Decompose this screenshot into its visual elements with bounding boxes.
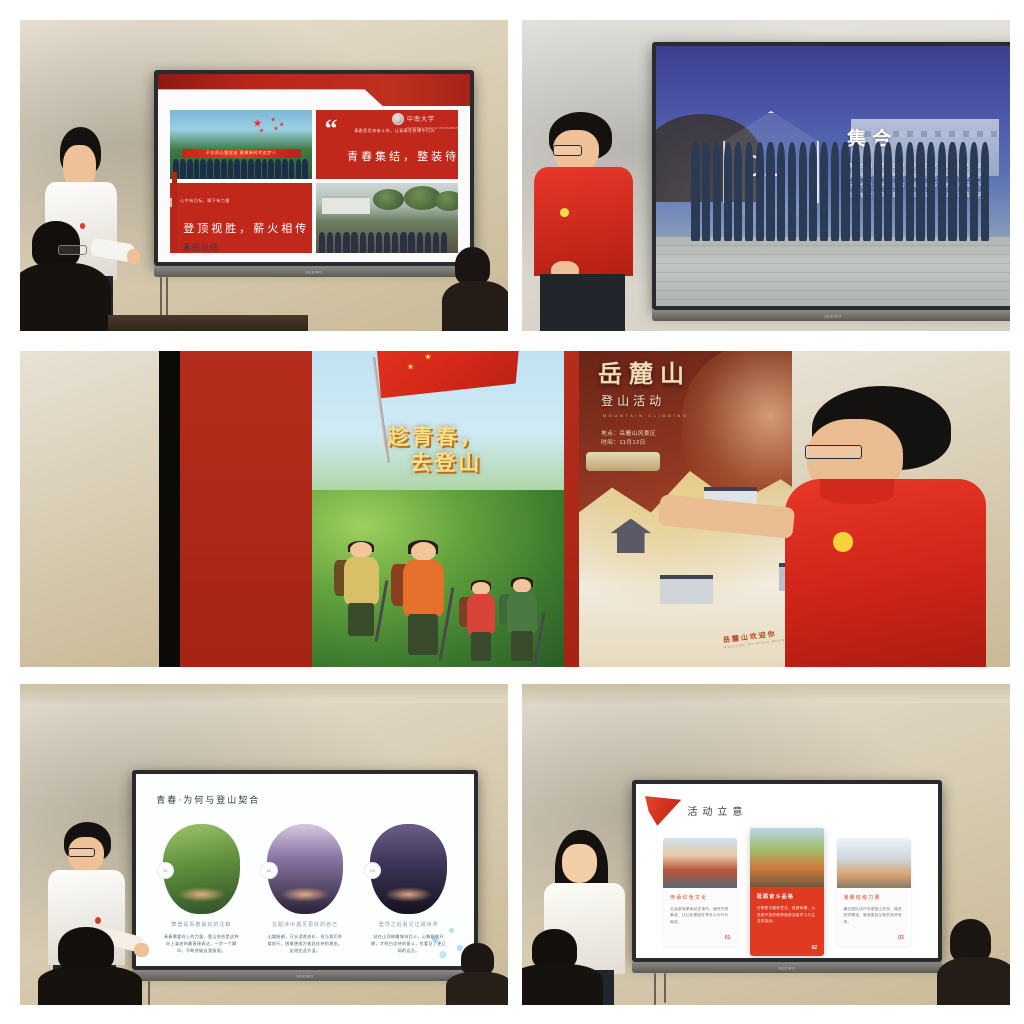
card-image-3: [837, 838, 911, 888]
slide-columns: 01 攀登是青春最好的注脚 青春需要向上的力量，登山恰恰是这种向上姿态的最直接表…: [163, 824, 447, 955]
audience-shoulders: [38, 966, 142, 1005]
display-screen-top-right: 01 集合 清晨的阳光洒在岳麓山下，同学们陆续抵达集合点，满怀期待地整理着装备。…: [652, 42, 1010, 310]
column-badge-3: 03: [365, 863, 380, 878]
university-name-en: CENTRAL SOUTH UNIVERSITY: [407, 126, 461, 130]
stone-steps: [656, 236, 1010, 306]
badge-label: 03: [365, 863, 380, 878]
poster-right-meta: 地点：岳麓山风景区 时间：11月12日: [601, 430, 656, 449]
table-edge: [108, 315, 308, 331]
presenter-glasses: [68, 848, 95, 857]
column-heading-1: 攀登是青春最好的注脚: [163, 921, 240, 928]
audience-right: [946, 919, 1010, 1005]
display-cable: [654, 973, 656, 1005]
column-badge-2: 02: [261, 863, 276, 878]
audience-head: [950, 919, 991, 962]
poster-scene: ★ ★★ ★★ 趁青春， 去登山: [20, 351, 1010, 667]
poster-left-title-line1: 趁青春，: [388, 425, 484, 449]
university-name: 中南大学: [407, 117, 435, 123]
presenter-polo: [534, 167, 633, 277]
slide-canvas-2: 01 集合 清晨的阳光洒在岳麓山下，同学们陆续抵达集合点，满怀期待地整理着装备。…: [656, 46, 1010, 306]
display-screen-top-left: 素拓总结 中南大学 CENTRAL SOUTH UNIVERSITY ★★ ★: [154, 70, 474, 266]
hiker-illustrations: [332, 509, 554, 661]
poster-right-subtitle: 登山活动: [601, 392, 665, 409]
slide-three-cards: 活动立意 传承红色文化 沿途参观革命纪念场所，缅怀先烈事迹，让红色基因在青年心中…: [636, 784, 938, 958]
scroll-decor: [586, 452, 661, 471]
class-group-silhouettes: [319, 217, 455, 253]
hiker-figure: [394, 542, 452, 654]
audience-left: [50, 927, 134, 1005]
display-brand: SEEWO: [824, 313, 841, 318]
audience-right: [456, 943, 508, 1005]
card-image-1: [663, 838, 737, 888]
poster-left-title-line2: 去登山: [410, 450, 549, 476]
poster-right-subtitle-en: MOUNTAIN CLIMBING: [603, 413, 689, 418]
column-body-2: 山路陡峭，汗水浸透衣衫，但当我们并肩前行，困难便成为彼此扶持的理由，友谊在此升温…: [267, 933, 344, 954]
presenter-middle: [772, 386, 990, 667]
presenter-face: [562, 844, 597, 883]
presenter-collar: [820, 479, 894, 504]
student-group-silhouettes: [691, 142, 1006, 241]
panel-top-left: 素拓总结 中南大学 CENTRAL SOUTH UNIVERSITY ★★ ★: [20, 20, 508, 331]
oval-image-3: [370, 824, 447, 914]
card-text-2: 在攀登中磨练意志、强健体魄，以坚韧不拔的精神面貌迎接学习与生活的挑战。: [757, 905, 817, 925]
card-body: 传承红色文化 沿途参观革命纪念场所，缅怀先烈事迹，让红色基因在青年心中代代相传。…: [663, 888, 737, 946]
display-brand: SEEWO: [296, 973, 313, 978]
card-heading-2: 砥砺奋斗品格: [757, 893, 817, 900]
card-text-3: 通过团队协作完成登山任务，增进同学情谊，营造团结互助的良好班风。: [844, 906, 904, 926]
audience-shoulders: [937, 957, 1010, 1005]
slide-red-grid: 素拓总结 中南大学 CENTRAL SOUTH UNIVERSITY ★★ ★: [158, 74, 470, 262]
slide-title: 青春·为何与登山契合: [156, 793, 260, 806]
display-chin: SEEWO: [652, 310, 1010, 321]
photo-collage: 素拓总结 中南大学 CENTRAL SOUTH UNIVERSITY ★★ ★: [0, 0, 1024, 1024]
quote-mark-icon: “: [324, 119, 337, 139]
slide-three-ovals: 青春·为何与登山契合 01 攀登是青春最好的注脚 青春需要向上的力量，登山恰恰是…: [136, 774, 474, 966]
hiker-figure: [337, 542, 386, 636]
card-heading-1: 传承红色文化: [670, 894, 730, 901]
presenter-pants: [540, 274, 624, 331]
slide-header-bar: [158, 74, 470, 106]
column-body-1: 青春需要向上的力量，登山恰恰是这种向上姿态的最直接表达，一步一个脚印，不断突破自…: [163, 933, 240, 954]
display-chin: SEEWO: [632, 962, 942, 973]
temple-hall-shape: [660, 575, 713, 603]
presenter-polo: [785, 479, 985, 667]
poster-left-title: 趁青春， 去登山: [388, 424, 550, 477]
presenter-hand: [127, 249, 140, 263]
image-glow: [384, 887, 433, 901]
card-text-1: 沿途参观革命纪念场所，缅怀先烈事迹，让红色基因在青年心中代代相传。: [670, 906, 730, 926]
audience-head: [455, 247, 490, 284]
slide-chapter-01: 01 集合 清晨的阳光洒在岳麓山下，同学们陆续抵达集合点，满怀期待地整理着装备。…: [656, 46, 1010, 306]
audience-left: [20, 221, 106, 331]
image-glow: [177, 887, 226, 901]
card-body: 砥砺奋斗品格 在攀登中磨练意志、强健体魄，以坚韧不拔的精神面貌迎接学习与生活的挑…: [750, 887, 824, 956]
card-heading-3: 凝聚班级力量: [844, 894, 904, 901]
audience-shoulders: [20, 263, 111, 331]
badge-label: 02: [261, 863, 276, 878]
content-card-highlighted: 砥砺奋斗品格 在攀登中磨练意志、强健体魄，以坚韧不拔的精神面貌迎接学习与生活的挑…: [750, 828, 824, 956]
display-brand: SEEWO: [305, 269, 322, 274]
title-tick-mark: [172, 172, 177, 251]
image-glow: [280, 887, 329, 901]
grid-cell-class-photo: [316, 183, 458, 252]
content-card: 传承红色文化 沿途参观革命纪念场所，缅怀先烈事迹，让红色基因在青年心中代代相传。…: [663, 838, 737, 946]
audience-glasses: [58, 245, 87, 255]
presenter-hand: [134, 943, 148, 958]
oval-image-2: [267, 824, 344, 914]
slide-canvas-4: 活动立意 传承红色文化 沿途参观革命纪念场所，缅怀先烈事迹，让红色基因在青年心中…: [636, 784, 938, 958]
room-wall: [20, 351, 178, 667]
red-flag-ribbon-icon: [645, 796, 681, 826]
audience-head: [461, 943, 494, 975]
slide-card-row: 传承红色文化 沿途参观革命纪念场所，缅怀先烈事迹，让红色基因在青年心中代代相传。…: [663, 838, 911, 946]
presenter-glasses: [553, 145, 581, 156]
panel-top-right: 01 集合 清晨的阳光洒在岳麓山下，同学们陆续抵达集合点，满怀期待地整理着装备。…: [522, 20, 1010, 331]
slide-title: 活动立意: [687, 803, 747, 818]
university-seal-icon: [392, 113, 404, 125]
tree-shape: [373, 189, 404, 210]
card-body: 凝聚班级力量 通过团队协作完成登山任务，增进同学情谊，营造团结互助的良好班风。 …: [837, 888, 911, 946]
poster-meta-location: 地点：岳麓山风景区: [601, 430, 656, 439]
audience-head: [32, 221, 80, 267]
column-badge-1: 01: [158, 863, 173, 878]
audience-head: [58, 927, 113, 971]
panel-bottom-right: 活动立意 传承红色文化 沿途参观革命纪念场所，缅怀先烈事迹，让红色基因在青年心中…: [522, 684, 1010, 1005]
hiker-figure: [501, 579, 543, 661]
chinese-flag-icon: ★ ★★ ★★: [375, 351, 521, 402]
tree-shape: [435, 191, 458, 210]
display-cable: [148, 981, 150, 1005]
audience-left: [522, 929, 594, 1005]
slide-column: 01 攀登是青春最好的注脚 青春需要向上的力量，登山恰恰是这种向上姿态的最直接表…: [163, 824, 240, 955]
subtitle-headline: 登顶视胜，薪火相传: [183, 220, 303, 236]
card-number-2: 02: [812, 945, 818, 951]
panel-bottom-left: 青春·为何与登山契合 01 攀登是青春最好的注脚 青春需要向上的力量，登山恰恰是…: [20, 684, 508, 1005]
building-shape: [322, 196, 370, 214]
audience-head: [532, 929, 577, 969]
card-number-3: 03: [898, 935, 904, 941]
presenter-top-right: [534, 112, 642, 331]
slide-column: 02 在跋涉中遇见更好的自己 山路陡峭，汗水浸透衣衫，但当我们并肩前行，困难便成…: [267, 824, 344, 955]
audience-shoulders: [446, 972, 508, 1005]
oval-image-1: [163, 824, 240, 914]
grid-cell-group-photo: ★★ ★★ ★ 不忘初心跟党走 勇做新时代追梦人: [170, 110, 312, 179]
card-number-1: 01: [725, 935, 731, 941]
flag-stars-decor: ★★ ★★ ★: [253, 118, 301, 139]
slide-grid: ★★ ★★ ★ 不忘初心跟党走 勇做新时代追梦人: [170, 110, 457, 253]
audience-shoulders: [442, 281, 508, 331]
crowd-silhouettes: [173, 150, 309, 179]
display-cable: [664, 973, 666, 1003]
poster-meta-date: 时间：11月12日: [601, 439, 656, 448]
audience-right: [452, 247, 508, 331]
content-card: 凝聚班级力量 通过团队协作完成登山任务，增进同学情谊，营造团结互助的良好班风。 …: [837, 838, 911, 946]
presenter-badge: [833, 532, 853, 552]
presenter-badge: [560, 208, 569, 217]
panel-middle-posters: ★ ★★ ★★ 趁青春， 去登山: [20, 351, 1010, 667]
display-brand: SEEWO: [778, 965, 795, 970]
display-screen-bottom-right: 活动立意 传承红色文化 沿途参观革命纪念场所，缅怀先烈事迹，让红色基因在青年心中…: [632, 780, 942, 962]
display-screen-bottom-left: 青春·为何与登山契合 01 攀登是青春最好的注脚 青春需要向上的力量，登山恰恰是…: [132, 770, 478, 970]
quote-headline: 青春集结，整装待发: [347, 148, 450, 164]
audience-shoulders: [522, 964, 603, 1005]
university-logo: 中南大学 CENTRAL SOUTH UNIVERSITY: [392, 108, 461, 130]
display-chin: SEEWO: [154, 266, 474, 277]
subtitle-small-text: 心中有目标，脚下有力量: [180, 198, 230, 204]
presenter-glasses: [805, 445, 862, 459]
poster-right-title: 岳麓山: [598, 354, 691, 389]
slide-canvas-1: 素拓总结 中南大学 CENTRAL SOUTH UNIVERSITY ★★ ★: [158, 74, 470, 262]
slide-canvas-3: 青春·为何与登山契合 01 攀登是青春最好的注脚 青春需要向上的力量，登山恰恰是…: [136, 774, 474, 966]
display-chin: SEEWO: [132, 970, 478, 981]
hiker-figure: [461, 582, 501, 661]
column-heading-2: 在跋涉中遇见更好的自己: [267, 921, 344, 928]
poster-left: ★ ★★ ★★ 趁青春， 去登山: [312, 351, 564, 667]
card-image-2: [750, 828, 824, 887]
slide-header-title: 素拓总结: [183, 242, 219, 253]
badge-label: 01: [158, 863, 173, 878]
